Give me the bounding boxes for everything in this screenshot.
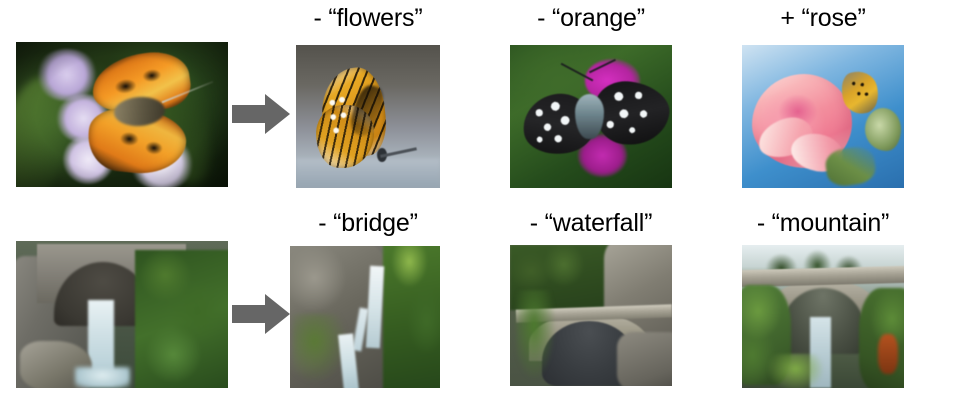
result-image-rose-added bbox=[742, 45, 904, 188]
query-label-flowers: - “flowers” bbox=[296, 6, 440, 31]
foliage bbox=[135, 250, 228, 388]
result-image-orange-removed bbox=[510, 45, 672, 188]
query-label-rose: + “rose” bbox=[742, 6, 904, 31]
foliage bbox=[768, 354, 823, 388]
result-image-bridge-removed bbox=[290, 246, 440, 388]
result-image-waterfall-removed bbox=[510, 245, 672, 386]
query-label-waterfall: - “waterfall” bbox=[510, 211, 672, 236]
foliage bbox=[383, 246, 440, 388]
result-image-mountain-removed bbox=[742, 245, 904, 388]
transform-arrow-bottom bbox=[232, 292, 290, 336]
result-image-flowers-removed bbox=[296, 45, 440, 188]
rock-face bbox=[617, 332, 672, 386]
foliage bbox=[516, 290, 555, 377]
photo-vignette bbox=[16, 42, 228, 187]
ground-reflection bbox=[296, 159, 440, 188]
transform-arrow-top bbox=[232, 92, 290, 136]
figure-root: - “flowers” - “orange” + “rose” bbox=[0, 0, 964, 402]
source-image-butterfly bbox=[16, 42, 228, 187]
water-pool bbox=[75, 367, 130, 388]
rose-bud bbox=[865, 108, 901, 151]
query-label-bridge: - “bridge” bbox=[296, 211, 440, 236]
rock-face bbox=[878, 334, 897, 374]
query-label-orange: - “orange” bbox=[510, 6, 672, 31]
source-image-bridge bbox=[16, 241, 228, 388]
query-label-mountain: - “mountain” bbox=[742, 211, 904, 236]
